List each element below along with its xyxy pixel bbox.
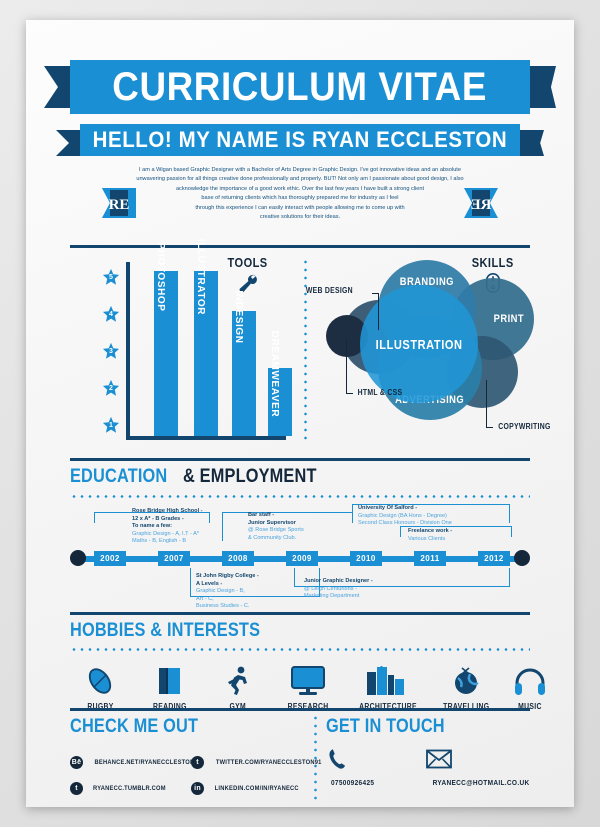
cv-title-banner: CURRICULUM VITAE [70, 60, 530, 114]
bar-photoshop: PHOTOSHOP [154, 271, 178, 436]
chart-y-axis [126, 262, 130, 440]
entry-line: Art - C, [196, 596, 259, 604]
tools-bar-chart: PHOTOSHOP ILLUSTRATOR INDESIGN DREAMWEAV… [126, 262, 286, 440]
entry-line: Bar staff - [248, 512, 304, 520]
divider-contact [70, 708, 530, 711]
education-dotted-rule [70, 495, 530, 498]
hobby-reading: READING [138, 660, 202, 714]
check-me-out-heading: CHECK ME OUT [70, 716, 198, 738]
entry-line: & Community Club. [248, 535, 304, 543]
svg-text:RE: RE [109, 197, 130, 213]
timeline-year-2008: 2008 [222, 551, 254, 566]
hobby-architecture: ARCHITECTURE [354, 660, 418, 714]
entry-line: @ Leigh Centurions - [304, 586, 373, 594]
link-label[interactable]: RYANECC.TUMBLR.COM [93, 785, 166, 792]
hobby-travelling: TRAVELLING [434, 660, 498, 714]
entry-line: Junior Supervisor [248, 520, 304, 528]
book-icon [138, 660, 202, 696]
envelope-icon [426, 746, 536, 772]
tumblr-icon[interactable]: t [70, 782, 83, 795]
leader-web-design-tick [372, 293, 379, 294]
timeline-year-2009: 2009 [286, 551, 318, 566]
entry-line: To name a few: [132, 523, 203, 531]
page-title: CURRICULUM VITAE [113, 65, 488, 110]
entry-line: Business Studies - C. [196, 603, 259, 611]
rating-star-4: 4 [102, 305, 120, 323]
entry-line: Freelance work - [408, 528, 452, 536]
leader-copywriting-tick [486, 427, 493, 428]
entry-line: @ Rose Bridge Sports [248, 527, 304, 535]
link-label[interactable]: LINKEDIN.COM/IN/RYANECC [215, 785, 299, 792]
callout-copywriting: COPYWRITING [498, 422, 550, 431]
timeline-year-2011: 2011 [414, 551, 446, 566]
link-tumblr[interactable]: t RYANECC.TUMBLR.COM [70, 782, 170, 795]
linkedin-icon[interactable]: in [191, 782, 204, 795]
timeline-entry-rigby: St John Rigby College - A Levels - Graph… [196, 573, 259, 611]
hobby-rugby: RUGBY [68, 660, 132, 714]
education-heading: EDUCATION & EMPLOYMENT [70, 466, 339, 488]
divider-hobbies [70, 612, 530, 615]
monogram-badge-right: RE [464, 186, 498, 220]
timeline-dot-start [70, 550, 86, 566]
bar-label: PHOTOSHOP [155, 242, 166, 311]
hobbies-dotted-rule [70, 648, 530, 651]
monitor-icon [276, 660, 340, 696]
callout-html-css: HTML & CSS [358, 388, 403, 397]
timeline: 2002 2007 2008 2009 2010 2011 2012 [70, 540, 530, 610]
rating-star-value: 3 [102, 342, 120, 360]
globe-icon [434, 660, 498, 696]
email-address[interactable]: RYANECC@HOTMAIL.CO.UK [433, 778, 530, 787]
education-heading-a: EDUCATION [70, 466, 167, 488]
timeline-dot-end [514, 550, 530, 566]
rating-star-value: 2 [102, 379, 120, 397]
entry-line: 12 x A* - B Grades - [132, 516, 203, 524]
rating-star-value: 4 [102, 305, 120, 323]
rating-star-3: 3 [102, 342, 120, 360]
intro-line: acknowledge the importance of a good wor… [82, 185, 518, 194]
divider-top-chart [70, 245, 530, 248]
entry-line: Junior Graphic Designer - [304, 578, 373, 586]
bar-label: ILLUSTRATOR [195, 239, 206, 315]
intro-line: base of returning clients which has thor… [82, 194, 518, 203]
entry-line: Various Clients [408, 536, 452, 544]
rating-star-2: 2 [102, 379, 120, 397]
phone-icon [328, 746, 377, 772]
contact-email[interactable]: RYANECC@HOTMAIL.CO.UK [426, 746, 536, 790]
runner-icon [206, 660, 270, 696]
rating-star-value: 5 [102, 268, 120, 286]
get-in-touch-heading: GET IN TOUCH [326, 716, 445, 738]
bubble-label: ILLUSTRATION [376, 337, 463, 352]
entry-line: University Of Salford - [358, 505, 452, 513]
callout-web-design: WEB DESIGN [306, 286, 353, 295]
timeline-entry-junior-designer: Junior Graphic Designer - @ Leigh Centur… [304, 578, 373, 601]
hobbies-heading: HOBBIES & INTERESTS [70, 620, 260, 642]
link-label[interactable]: BEHANCE.NET/RYANECCLESTON [95, 759, 195, 766]
leader-html-css-tick [346, 393, 353, 394]
link-behance[interactable]: Bē BEHANCE.NET/RYANECCLESTON [70, 756, 200, 769]
monogram-badge-left: RE [102, 186, 136, 220]
timeline-entry-freelance: Freelance work - Various Clients [408, 528, 452, 543]
bar-indesign: INDESIGN [232, 311, 256, 436]
entry-line: Second Class Honours - Division One [358, 520, 452, 528]
timeline-entry-rose-bridge: Rose Bridge High School - 12 x A* - B Gr… [132, 508, 203, 546]
timeline-entry-bar-staff: Bar staff - Junior Supervisor @ Rose Bri… [248, 512, 304, 542]
bar-label: INDESIGN [233, 290, 244, 343]
intro-line: through this experience I can easily int… [82, 204, 518, 213]
divider-education [70, 458, 530, 461]
timeline-year-2007: 2007 [158, 551, 190, 566]
cv-poster: CURRICULUM VITAE HELLO! MY NAME IS RYAN … [26, 20, 574, 807]
rating-star-5: 5 [102, 268, 120, 286]
rating-star-value: 1 [102, 416, 120, 434]
twitter-icon[interactable]: t [191, 756, 204, 769]
leader-html-css [346, 338, 347, 394]
buildings-icon [354, 660, 418, 696]
education-heading-b: & EMPLOYMENT [183, 466, 317, 488]
entry-line: Graphic Design - A, I.T - A* [132, 531, 203, 539]
svg-text:RE: RE [471, 197, 492, 213]
hobby-research: RESEARCH [276, 660, 340, 714]
hobby-music: MUSIC [498, 660, 562, 714]
contact-phone[interactable]: 07500926425 [328, 746, 377, 790]
entry-line: Rose Bridge High School - [132, 508, 203, 516]
intro-line: creative solutions for their ideas. [82, 213, 518, 222]
bar-label: DREAMWEAVER [269, 331, 280, 417]
entry-line: St John Rigby College - [196, 573, 259, 581]
intro-line: I am a Wigan based Graphic Designer with… [82, 166, 518, 175]
timeline-year-2012: 2012 [478, 551, 510, 566]
skills-bubble-chart: PRINT BRANDING ADVERTISING ILLUSTRATION … [326, 260, 536, 445]
entry-line: Graphic Design (BA Hons - Degree) [358, 513, 452, 521]
leader-web-design [378, 294, 379, 330]
rugby-ball-icon [68, 660, 132, 696]
timeline-year-2002: 2002 [94, 551, 126, 566]
leader-copywriting [486, 380, 487, 428]
timeline-entry-salford: University Of Salford - Graphic Design (… [358, 505, 452, 528]
bar-illustrator: ILLUSTRATOR [194, 271, 218, 436]
phone-number[interactable]: 07500926425 [331, 778, 374, 787]
link-twitter[interactable]: t TWITTER.COM/RYANECCLESTON91 [191, 756, 327, 769]
bar-dreamweaver: DREAMWEAVER [268, 368, 292, 436]
entry-line: Maths - B, English - B [132, 538, 203, 546]
bubble-label: PRINT [494, 313, 524, 325]
timeline-year-2010: 2010 [350, 551, 382, 566]
entry-line: A Levels - [196, 581, 259, 589]
intro-line: unwavering passion for all things creati… [82, 175, 518, 184]
name-banner: HELLO! MY NAME IS RYAN ECCLESTON [80, 124, 520, 156]
rating-star-1: 1 [102, 416, 120, 434]
link-linkedin[interactable]: in LINKEDIN.COM/IN/RYANECC [191, 782, 303, 795]
candidate-name: HELLO! MY NAME IS RYAN ECCLESTON [93, 127, 508, 153]
chart-x-axis [126, 436, 286, 440]
entry-line: Marketing Department [304, 593, 373, 601]
link-label[interactable]: TWITTER.COM/RYANECCLESTON91 [216, 759, 322, 766]
entry-line: Graphic Design - B, [196, 588, 259, 596]
headphones-icon [498, 660, 562, 696]
hobby-gym: GYM [206, 660, 270, 714]
intro-paragraph: I am a Wigan based Graphic Designer with… [82, 166, 518, 222]
behance-icon[interactable]: Bē [70, 756, 83, 769]
